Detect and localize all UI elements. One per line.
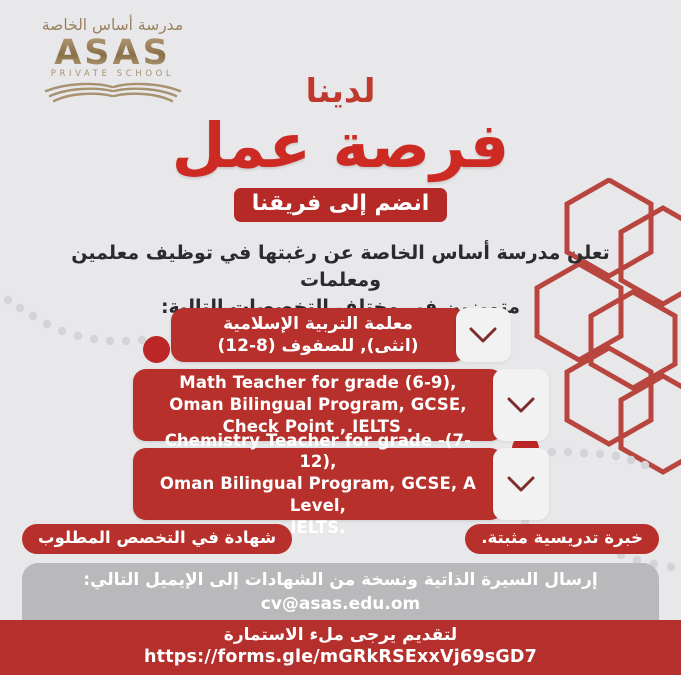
headline-main: فرصة عمل [0,113,681,178]
job-card-label: Chemistry Teacher for grade -(7-12), Oma… [133,448,504,520]
headline-block: لدينا فرصة عمل انضم إلى فريقنا [0,74,681,222]
job-line-1: Chemistry Teacher for grade -(7-12), [147,430,490,474]
intro-line-1: تعلن مدرسة أساس الخاصة عن رغبتها في توظي… [55,240,626,294]
logo-wordmark: ASAS [25,35,200,72]
application-form-link[interactable]: https://forms.gle/mGRkRSExxVj69sGD7 [0,646,681,669]
job-expand-toggle[interactable] [493,369,548,441]
job-card-chemistry-teacher[interactable]: Chemistry Teacher for grade -(7-12), Oma… [133,448,549,520]
chevron-down-icon [468,326,498,344]
job-line-2: Oman Bilingual Program, GCSE, A Level, [147,473,490,517]
chevron-down-icon [506,475,536,493]
job-expand-toggle[interactable] [456,308,511,362]
job-line-1: معلمة التربية الإسلامية [218,313,419,335]
job-list: معلمة التربية الإسلامية (انثى), للصفوف (… [0,308,681,527]
requirement-certificate-badge: شهادة في التخصص المطلوب [22,524,292,554]
contact-email[interactable]: cv@asas.edu.om [261,593,420,617]
contact-line-1: إرسال السيرة الذاتية ونسخة من الشهادات إ… [38,569,643,617]
headline-kicker: لدينا [0,74,681,107]
job-line-2: (انثى), للصفوف (8-12) [218,335,419,357]
apply-instruction: لتقديم يرجى ملء الاستمارة [0,625,681,646]
requirements-row: شهادة في التخصص المطلوب خبرة تدريسية مثب… [22,524,659,554]
job-card-label: معلمة التربية الإسلامية (انثى), للصفوف (… [171,308,466,362]
job-card-islamic-education[interactable]: معلمة التربية الإسلامية (انثى), للصفوف (… [171,308,511,362]
job-line-2: Oman Bilingual Program, GCSE, [169,394,466,416]
contact-instruction: إرسال السيرة الذاتية ونسخة من الشهادات إ… [83,570,597,590]
job-expand-toggle[interactable] [493,448,548,520]
chevron-down-icon [506,396,536,414]
job-vacancy-poster: مدرسة أساس الخاصة ASAS PRIVATE SCHOOL لد… [0,0,681,675]
job-line-1: Math Teacher for grade (6-9), [169,372,466,394]
logo-arabic-name: مدرسة أساس الخاصة [25,18,200,34]
requirement-experience-badge: خبرة تدريسية مثبتة. [465,524,659,554]
footer-bar: لتقديم يرجى ملء الاستمارة https://forms.… [0,620,681,675]
join-team-badge: انضم إلى فريقنا [234,188,448,222]
